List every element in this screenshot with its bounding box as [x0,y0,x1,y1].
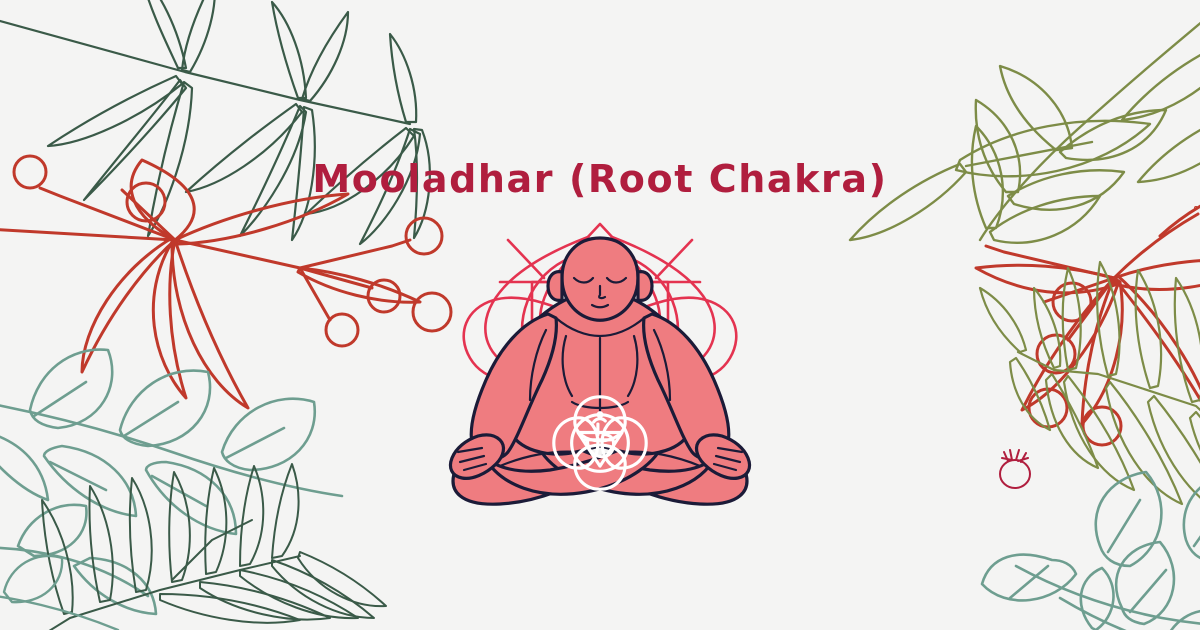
title-container: Mooladhar (Root Chakra) [0,156,1200,202]
meditating-figure-illustration [0,0,1200,630]
page-title: Mooladhar (Root Chakra) [312,156,887,202]
right-ear [638,272,652,301]
bindu-dot [598,413,602,417]
poster-canvas: Mooladhar (Root Chakra) [0,0,1200,630]
left-ear [548,272,562,301]
